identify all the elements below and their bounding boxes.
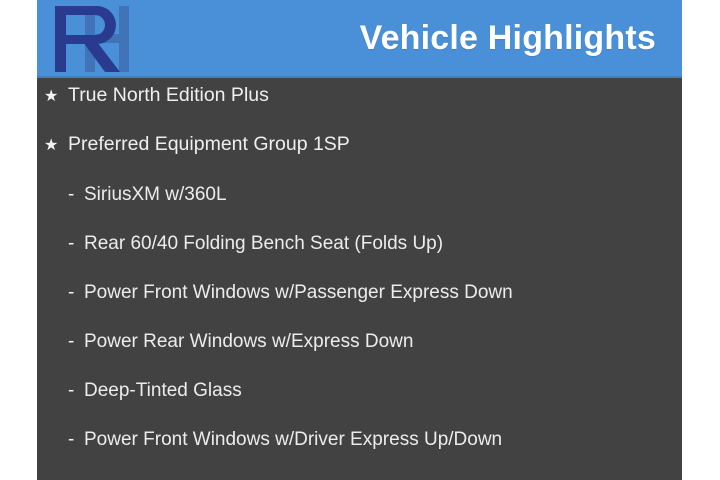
list-item: - Power Front Windows w/Passenger Expres… [37,283,513,302]
list-item: - SiriusXM w/360L [37,185,227,204]
list-item: - Rear 60/40 Folding Bench Seat (Folds U… [37,234,443,253]
list-item-label: True North Edition Plus [68,86,269,106]
list-item-label: Power Rear Windows w/Express Down [84,332,413,351]
list-item: - Power Front Windows w/Driver Express U… [37,430,502,449]
star-bullet-icon: ★ [44,138,68,154]
dash-bullet-icon: - [68,185,84,204]
page-title: Vehicle Highlights [360,14,656,62]
list-item-label: Deep-Tinted Glass [84,381,242,400]
list-item-label: SiriusXM w/360L [84,185,227,204]
highlights-list: ★ True North Edition Plus ★ Preferred Eq… [37,80,682,480]
dash-bullet-icon: - [68,332,84,351]
slide-header: Vehicle Highlights [37,0,682,78]
list-item-label: Preferred Equipment Group 1SP [68,135,350,155]
dash-bullet-icon: - [68,381,84,400]
list-item-label: Power Front Windows w/Passenger Express … [84,283,513,302]
dash-bullet-icon: - [68,430,84,449]
slide: Vehicle Highlights ★ True North Edition … [37,0,682,480]
list-item: ★ Preferred Equipment Group 1SP [37,135,350,155]
list-item: - Deep-Tinted Glass [37,381,242,400]
rh-monogram-logo [45,2,141,76]
list-item-label: Power Front Windows w/Driver Express Up/… [84,430,502,449]
list-item: ★ True North Edition Plus [37,86,269,106]
dash-bullet-icon: - [68,283,84,302]
list-item: - Power Rear Windows w/Express Down [37,332,413,351]
star-bullet-icon: ★ [44,89,68,105]
dash-bullet-icon: - [68,234,84,253]
list-item-label: Rear 60/40 Folding Bench Seat (Folds Up) [84,234,443,253]
